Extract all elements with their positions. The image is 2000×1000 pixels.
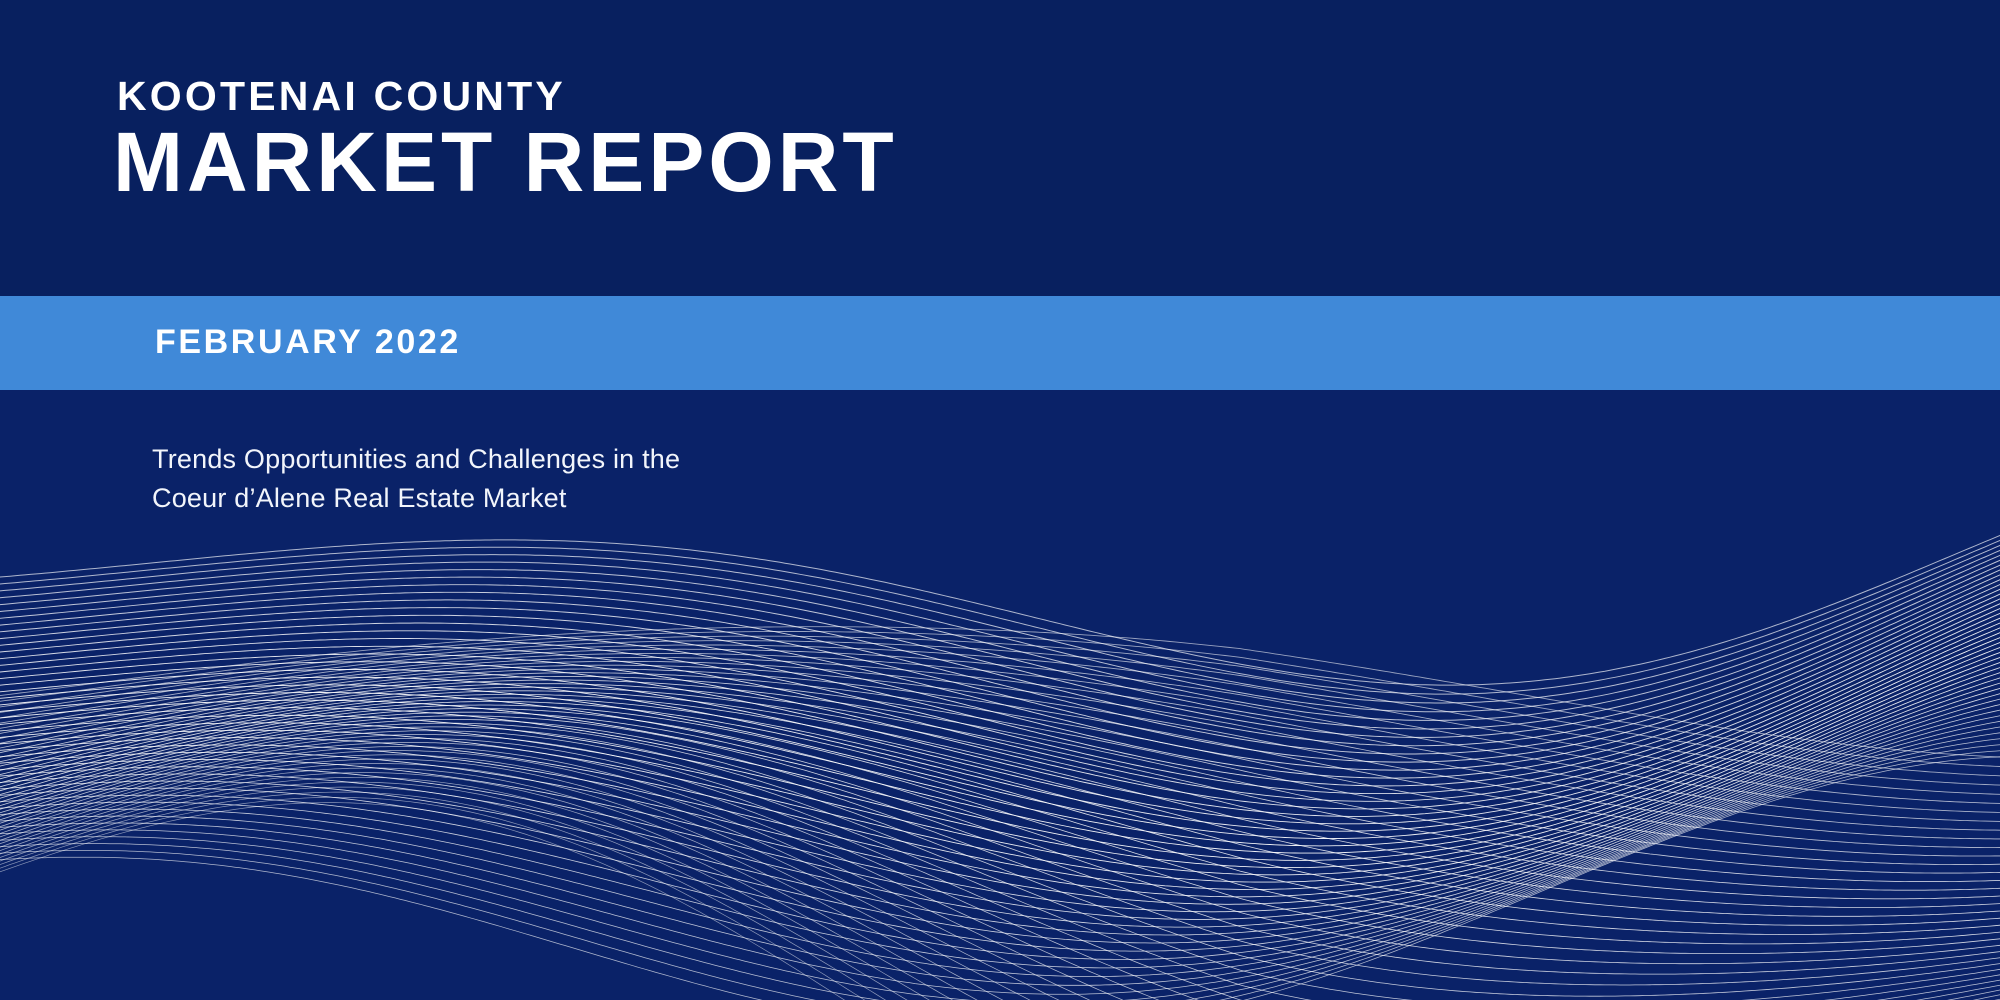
report-subtitle-line-2: Coeur d’Alene Real Estate Market [152, 479, 680, 518]
report-subtitle-line-1: Trends Opportunities and Challenges in t… [152, 440, 680, 479]
report-period-label: FEBRUARY 2022 [155, 325, 461, 359]
market-report-cover: KOOTENAI COUNTY MARKET REPORT FEBRUARY 2… [0, 0, 2000, 1000]
page-title: MARKET REPORT [113, 118, 898, 206]
report-subtitle: Trends Opportunities and Challenges in t… [152, 440, 680, 518]
eyebrow-text: KOOTENAI COUNTY [117, 76, 566, 117]
